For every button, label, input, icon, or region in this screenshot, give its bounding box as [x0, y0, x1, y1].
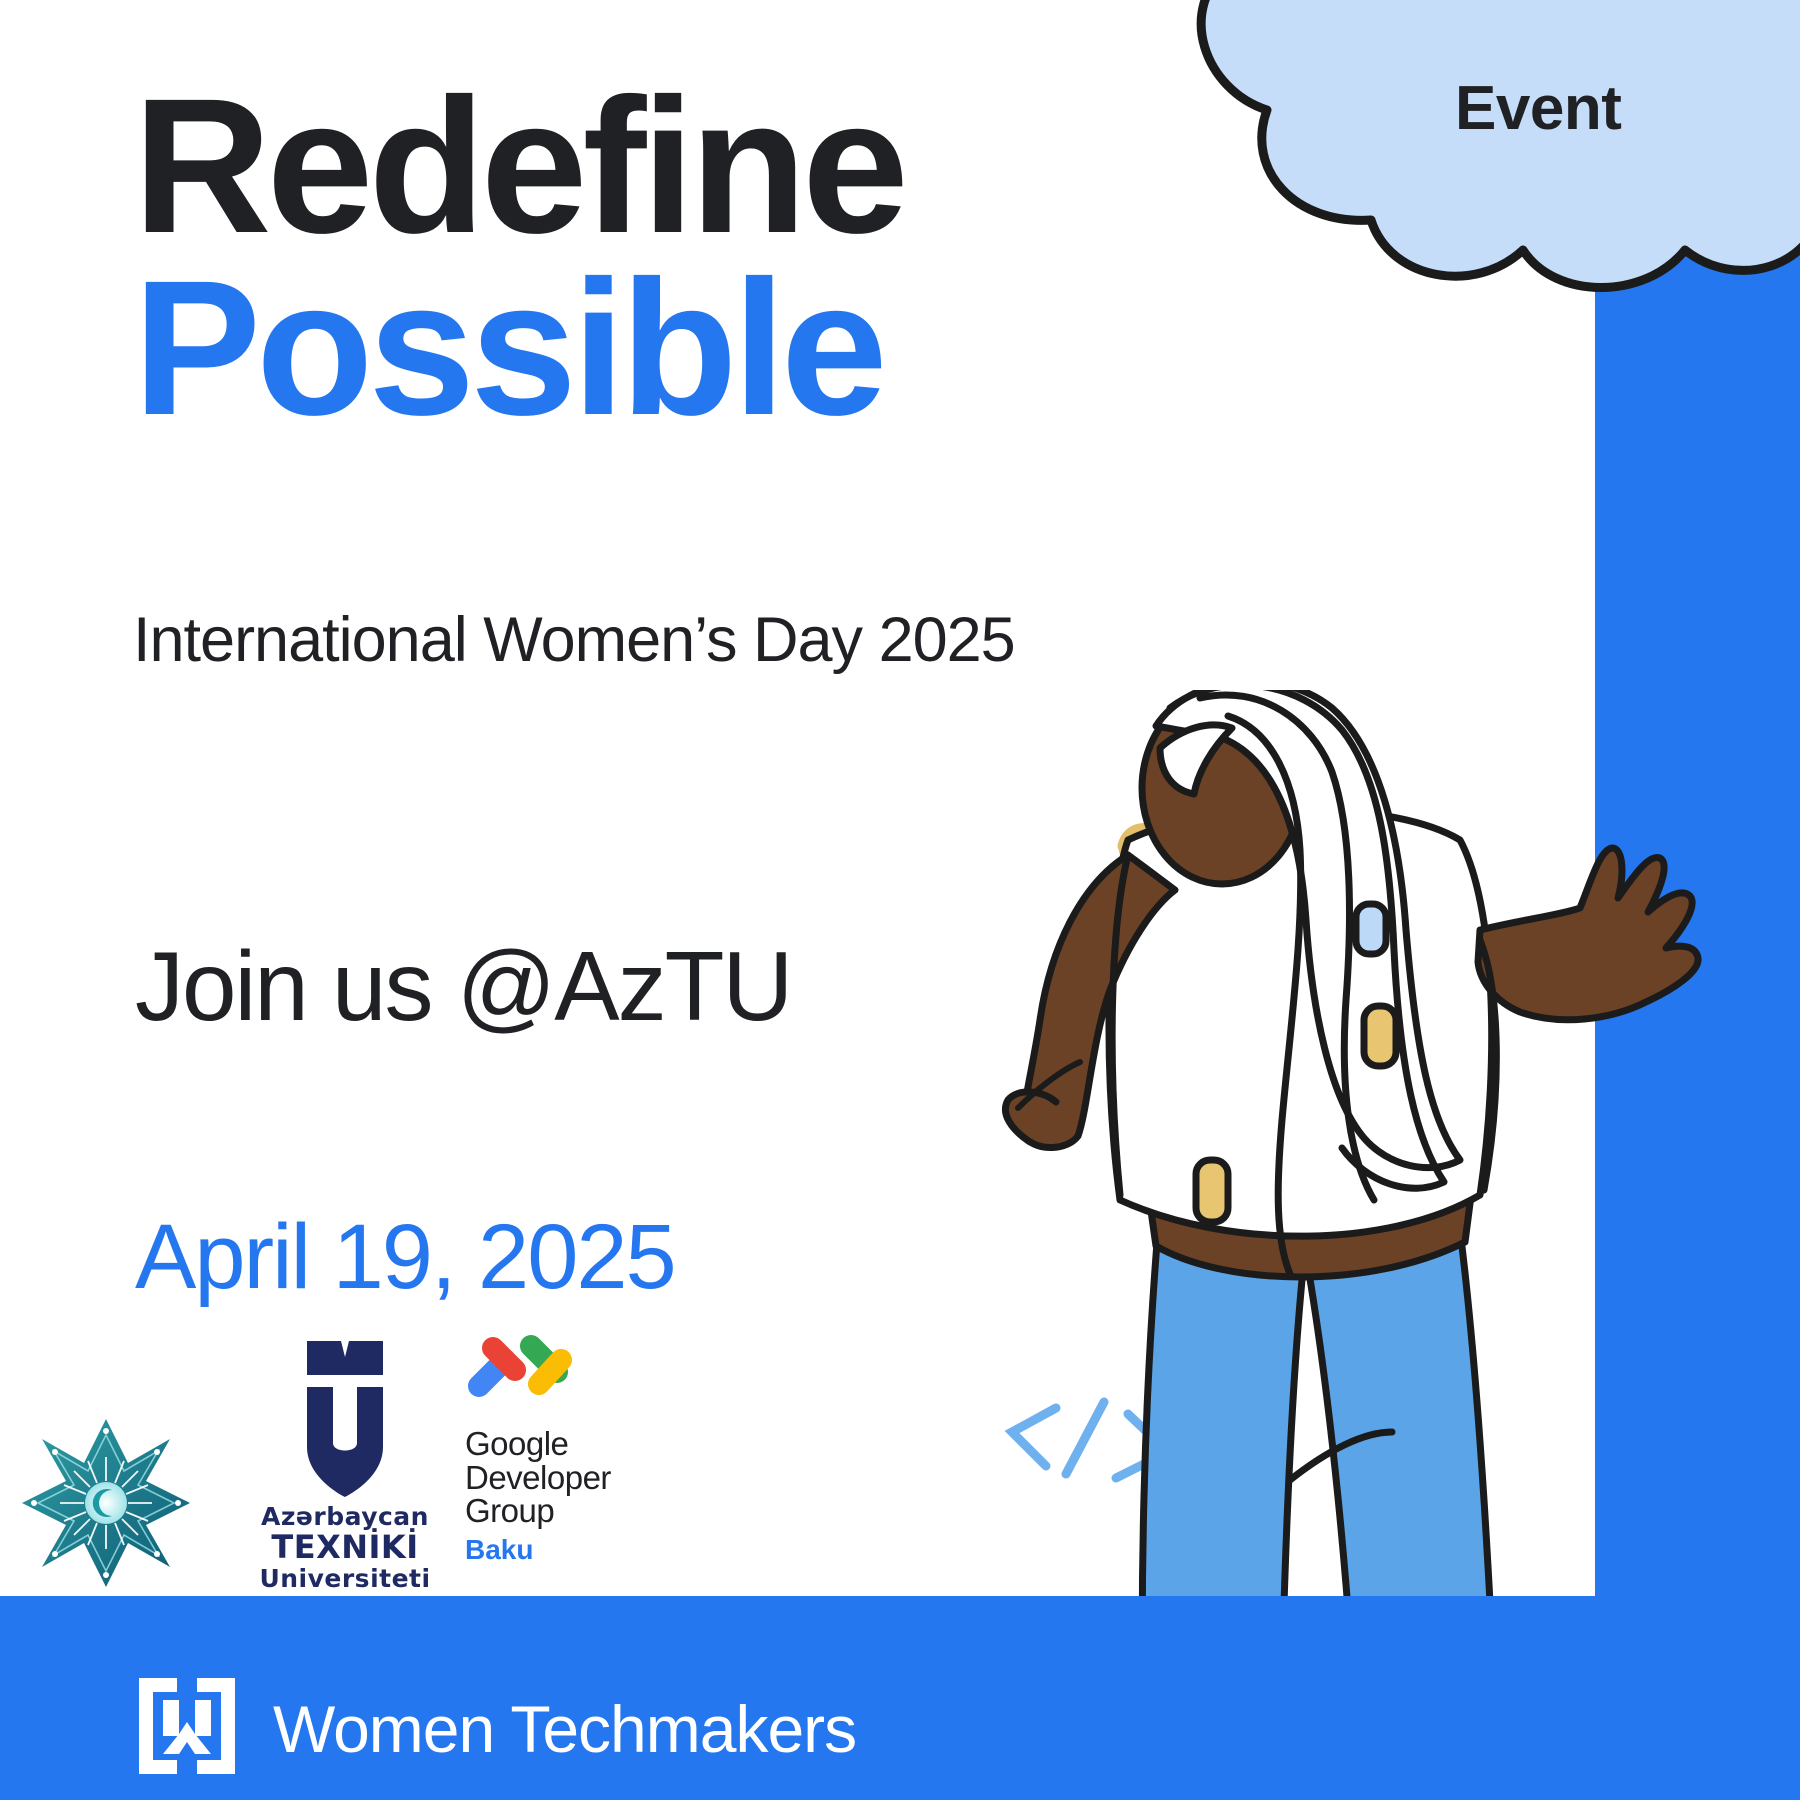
aztu-line-2: TEXNİKİ [255, 1530, 435, 1565]
cloud-icon [1175, 0, 1800, 330]
gdg-line-1: Google [465, 1427, 640, 1461]
poster-canvas: Event Redefine Possible International Wo… [0, 0, 1800, 1800]
google-developer-group-logo: Google Developer Group Baku [465, 1330, 640, 1566]
women-techmakers-label: Women Techmakers [273, 1691, 856, 1767]
azerbaijan-technical-university-logo: Azərbaycan TEXNİKİ Universiteti [255, 1339, 435, 1592]
aztu-line-3: Universiteti [255, 1565, 435, 1592]
women-techmakers-footer: Women Techmakers [133, 1672, 856, 1785]
gdg-line-3: Group [465, 1494, 640, 1528]
event-date: April 19, 2025 [135, 1205, 675, 1310]
headline-subtitle: International Women’s Day 2025 [133, 604, 1015, 676]
women-techmakers-logo [133, 1672, 241, 1785]
join-text: Join us @AzTU [135, 930, 791, 1043]
partner-logos: Azərbaycan TEXNİKİ Universiteti Goo [22, 1352, 640, 1592]
headline-line-1: Redefine [133, 72, 904, 260]
headline-line-2: Possible [133, 254, 904, 442]
azerbaijan-star-emblem [22, 1419, 190, 1592]
event-badge-label: Event [1455, 78, 1621, 140]
gdg-city: Baku [465, 1534, 640, 1566]
gdg-line-2: Developer [465, 1461, 640, 1495]
aztu-line-1: Azərbaycan [255, 1503, 435, 1530]
page-title: Redefine Possible [133, 72, 904, 442]
